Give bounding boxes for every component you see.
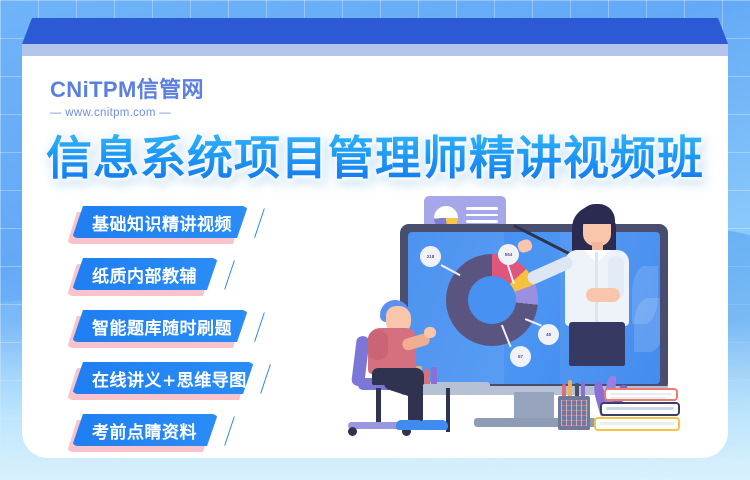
chart-tag-0: 218: [420, 246, 441, 267]
feature-item-label: 考前点睛资料: [92, 418, 197, 443]
chair-post: [376, 388, 381, 424]
book-item: [594, 417, 680, 431]
feature-item-pill[interactable]: 基础知识精讲视频: [72, 206, 248, 238]
chair-wheel: [348, 427, 357, 436]
feature-item-label: 智能题库随时刷题: [92, 314, 232, 339]
feature-item-label: 基础知识精讲视频: [92, 210, 232, 235]
poster-card: CNiTPM信管网 — www.cnitpm.com — 信息系统项目管理师精讲…: [22, 18, 728, 458]
feature-list: 基础知识精讲视频纸质内部教辅智能题库随时刷题在线讲义+思维导图考前点睛资料: [72, 206, 332, 458]
feature-item-pill[interactable]: 智能题库随时刷题: [72, 310, 248, 342]
brand-logo: CNiTPM信管网 — www.cnitpm.com —: [50, 72, 204, 119]
book-item: [600, 402, 680, 416]
book-item: [604, 388, 678, 401]
monitor-neck: [514, 392, 554, 420]
teacher-hair-top: [579, 204, 615, 224]
teacher-skirt: [569, 322, 625, 366]
feature-item-3[interactable]: 在线讲义+思维导图: [72, 362, 332, 402]
online-class-illustration: 218 554 48 67: [362, 196, 722, 458]
student-sleeve: [368, 330, 388, 360]
student-shin: [408, 372, 423, 424]
feature-item-accent: [224, 260, 235, 290]
student-shoe: [420, 420, 448, 430]
feature-item-accent: [224, 416, 235, 446]
leaf-decoration-icon: [634, 298, 660, 352]
poster-body: CNiTPM信管网 — www.cnitpm.com — 信息系统项目管理师精讲…: [22, 56, 728, 458]
chart-tag-1: 554: [498, 244, 519, 265]
logo-text: CNiTPM信管网: [50, 72, 204, 104]
feature-item-4[interactable]: 考前点睛资料: [72, 414, 332, 454]
chart-tag-2: 48: [538, 324, 559, 345]
feature-item-1[interactable]: 纸质内部教辅: [72, 258, 332, 298]
feature-item-accent: [254, 208, 265, 238]
feature-item-label: 在线讲义+思维导图: [92, 366, 247, 391]
feature-item-2[interactable]: 智能题库随时刷题: [72, 310, 332, 350]
feature-item-0[interactable]: 基础知识精讲视频: [72, 206, 332, 246]
student-hand: [424, 327, 436, 338]
feature-item-pill[interactable]: 考前点睛资料: [72, 414, 218, 446]
pen-holder-grid: [561, 400, 587, 426]
chart-tag-3: 67: [510, 346, 531, 367]
logo-website: — www.cnitpm.com —: [50, 107, 204, 119]
feature-item-accent: [260, 364, 271, 394]
feature-item-pill[interactable]: 在线讲义+思维导图: [72, 362, 254, 394]
poster-top-bar: [22, 18, 728, 44]
teacher-hands: [586, 288, 620, 302]
donut-chart-hole: [468, 276, 516, 324]
feature-item-pill[interactable]: 纸质内部教辅: [72, 258, 218, 290]
page-title: 信息系统项目管理师精讲视频班: [22, 122, 728, 188]
feature-item-accent: [254, 312, 265, 342]
feature-item-label: 纸质内部教辅: [92, 262, 197, 287]
poster-accent-band: [22, 44, 728, 56]
